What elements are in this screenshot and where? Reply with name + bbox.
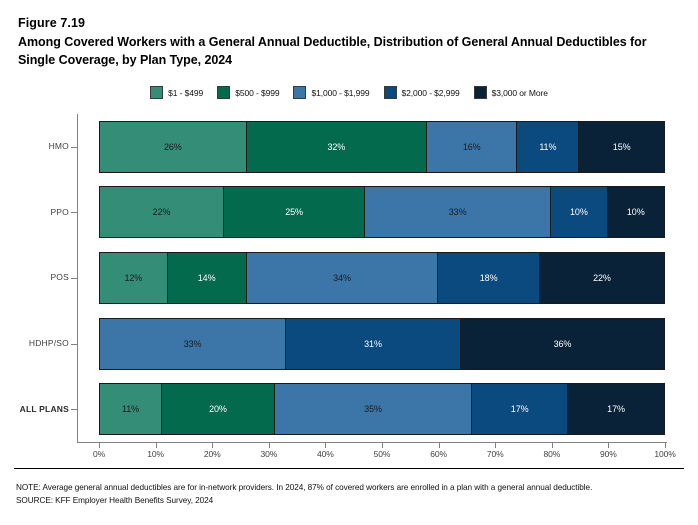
x-axis-tick [99, 443, 100, 448]
legend-swatch-icon [150, 86, 163, 99]
y-axis-tick [71, 212, 77, 213]
y-axis-tick [71, 409, 77, 410]
bar-segment[interactable]: 10% [551, 187, 607, 237]
bar-segment-value: 10% [570, 207, 588, 217]
bar-segment-value: 22% [153, 207, 171, 217]
stacked-bar: 11%20%35%17%17% [99, 383, 665, 435]
x-axis-tick-label: 60% [430, 449, 447, 459]
bar-segment[interactable]: 36% [461, 319, 664, 369]
bar-segment[interactable]: 11% [517, 122, 579, 172]
bar-segment-value: 11% [122, 404, 139, 414]
bar-row: ALL PLANS11%20%35%17%17% [0, 376, 698, 442]
row-label-hdhp-so: HDHP/SO [0, 338, 69, 348]
bar-segment[interactable]: 33% [100, 319, 286, 369]
bar-segment[interactable]: 20% [162, 384, 275, 434]
legend-item[interactable]: $3,000 or More [474, 86, 548, 99]
legend-label: $1 - $499 [168, 88, 203, 98]
y-axis-tick [71, 147, 77, 148]
x-axis-tick-label: 70% [487, 449, 504, 459]
x-axis-tick [156, 443, 157, 448]
chart-legend: $1 - $499$500 - $999$1,000 - $1,999$2,00… [0, 86, 698, 99]
x-axis-tick-label: 40% [317, 449, 334, 459]
x-axis-tick-label: 90% [600, 449, 617, 459]
bar-segment[interactable]: 14% [168, 253, 247, 303]
bar-segment-value: 10% [627, 207, 645, 217]
footer-note: NOTE: Average general annual deductibles… [16, 482, 682, 495]
x-axis-tick [269, 443, 270, 448]
bar-segment[interactable]: 17% [568, 384, 664, 434]
bar-segment-value: 20% [209, 404, 227, 414]
footer-divider [14, 468, 684, 469]
stacked-bar: 26%32%16%11%15% [99, 121, 665, 173]
x-axis-tick [439, 443, 440, 448]
bar-segment[interactable]: 22% [540, 253, 664, 303]
legend-label: $2,000 - $2,999 [402, 88, 460, 98]
x-axis-tick [552, 443, 553, 448]
bar-segment[interactable]: 11% [100, 384, 162, 434]
bar-segment-value: 11% [539, 142, 556, 152]
figure-number: Figure 7.19 [18, 14, 678, 32]
stacked-bar: 33%31%36% [99, 318, 665, 370]
bar-row: PPO22%25%33%10%10% [0, 180, 698, 246]
bar-segment-value: 12% [124, 273, 142, 283]
x-axis-tick-label: 20% [204, 449, 221, 459]
bar-segment-value: 18% [480, 273, 498, 283]
bar-segment[interactable]: 32% [247, 122, 427, 172]
bar-segment[interactable]: 31% [286, 319, 461, 369]
legend-label: $1,000 - $1,999 [311, 88, 369, 98]
bar-segment[interactable]: 35% [275, 384, 472, 434]
bar-segment-value: 25% [285, 207, 303, 217]
bar-segment-value: 31% [364, 339, 382, 349]
legend-swatch-icon [474, 86, 487, 99]
stacked-bar: 22%25%33%10%10% [99, 186, 665, 238]
stacked-bar: 12%14%34%18%22% [99, 252, 665, 304]
x-axis-tick-label: 10% [147, 449, 164, 459]
row-label-all-plans: ALL PLANS [0, 404, 69, 414]
bar-segment[interactable]: 17% [472, 384, 568, 434]
legend-swatch-icon [384, 86, 397, 99]
bar-segment[interactable]: 22% [100, 187, 224, 237]
y-axis-tick [71, 344, 77, 345]
bar-row: POS12%14%34%18%22% [0, 245, 698, 311]
x-axis-ticks: 0%10%20%30%40%50%60%70%80%90%100% [0, 443, 698, 463]
bar-segment[interactable]: 10% [608, 187, 664, 237]
bar-rows: HMO26%32%16%11%15%PPO22%25%33%10%10%POS1… [0, 114, 698, 442]
footer-block: NOTE: Average general annual deductibles… [16, 482, 682, 507]
title-block: Figure 7.19 Among Covered Workers with a… [18, 14, 678, 69]
x-axis-tick-label: 80% [543, 449, 560, 459]
bar-segment-value: 33% [449, 207, 467, 217]
bar-segment-value: 33% [184, 339, 202, 349]
bar-row: HDHP/SO33%31%36% [0, 311, 698, 377]
x-axis-tick [665, 443, 666, 448]
bar-segment-value: 26% [164, 142, 182, 152]
x-axis-tick-label: 0% [93, 449, 105, 459]
bar-segment-value: 35% [364, 404, 382, 414]
legend-item[interactable]: $1,000 - $1,999 [293, 86, 369, 99]
row-label-hmo: HMO [0, 141, 69, 151]
bar-segment-value: 17% [607, 404, 625, 414]
x-axis-tick [382, 443, 383, 448]
bar-segment-value: 34% [333, 273, 351, 283]
x-axis-tick-label: 50% [374, 449, 391, 459]
bar-segment[interactable]: 25% [224, 187, 365, 237]
x-axis-tick [608, 443, 609, 448]
x-axis-tick [495, 443, 496, 448]
legend-label: $3,000 or More [492, 88, 548, 98]
bar-row: HMO26%32%16%11%15% [0, 114, 698, 180]
bar-segment-value: 32% [328, 142, 346, 152]
bar-segment[interactable]: 34% [247, 253, 439, 303]
legend-item[interactable]: $500 - $999 [217, 86, 279, 99]
legend-swatch-icon [293, 86, 306, 99]
x-axis-tick [212, 443, 213, 448]
bar-segment[interactable]: 33% [365, 187, 551, 237]
chart-plot-area: HMO26%32%16%11%15%PPO22%25%33%10%10%POS1… [0, 110, 698, 460]
bar-segment[interactable]: 12% [100, 253, 168, 303]
row-label-ppo: PPO [0, 207, 69, 217]
x-axis-tick-label: 100% [654, 449, 675, 459]
bar-segment-value: 22% [593, 273, 611, 283]
bar-segment-value: 15% [613, 142, 631, 152]
footer-source: SOURCE: KFF Employer Health Benefits Sur… [16, 495, 682, 508]
figure-title: Among Covered Workers with a General Ann… [18, 33, 678, 69]
legend-item[interactable]: $2,000 - $2,999 [384, 86, 460, 99]
bar-segment[interactable]: 15% [579, 122, 664, 172]
bar-segment-value: 36% [554, 339, 572, 349]
y-axis-tick [71, 278, 77, 279]
bar-segment-value: 14% [198, 273, 216, 283]
x-axis-tick [325, 443, 326, 448]
legend-swatch-icon [217, 86, 230, 99]
bar-segment[interactable]: 26% [100, 122, 247, 172]
bar-segment-value: 16% [463, 142, 481, 152]
bar-segment[interactable]: 18% [438, 253, 540, 303]
bar-segment-value: 17% [511, 404, 529, 414]
legend-label: $500 - $999 [235, 88, 279, 98]
row-label-pos: POS [0, 272, 69, 282]
x-axis-tick-label: 30% [260, 449, 277, 459]
bar-segment[interactable]: 16% [427, 122, 517, 172]
legend-item[interactable]: $1 - $499 [150, 86, 203, 99]
